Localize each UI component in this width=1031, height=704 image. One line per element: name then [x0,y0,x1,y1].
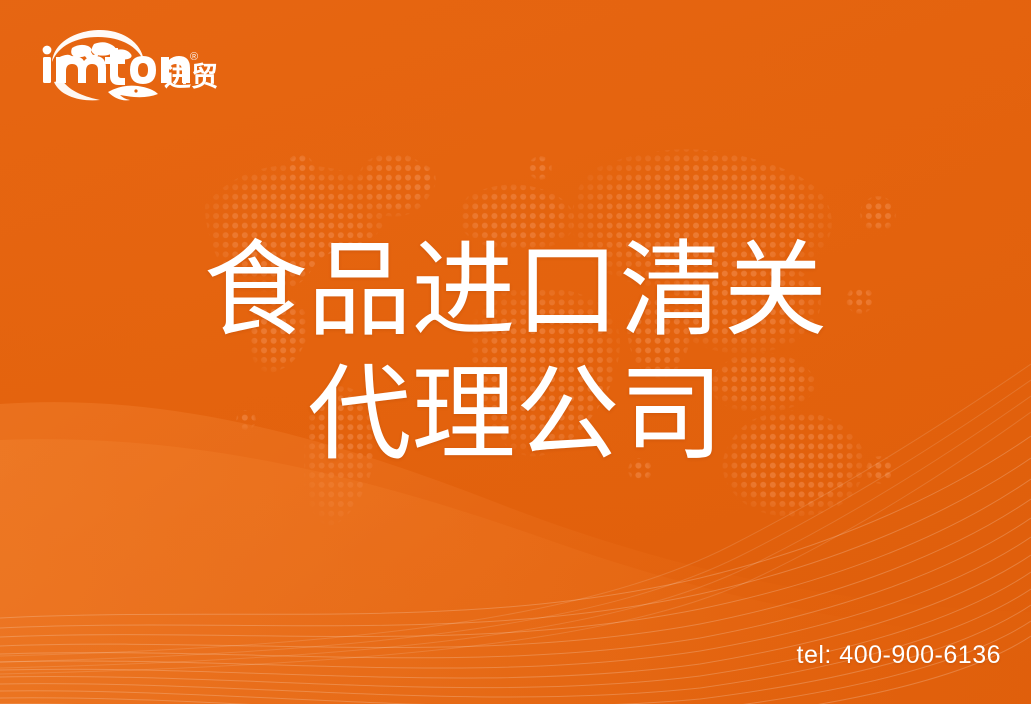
contact-phone[interactable]: tel: 400-900-6136 [797,643,1001,668]
company-logo[interactable]: 进贸通 [38,26,218,102]
promo-banner: 进贸通 ® 食品进口清关 代理公司 tel: 400-900-6136 [0,0,1031,704]
headline-line-2: 代理公司 [0,352,1031,476]
headline: 食品进口清关 代理公司 [0,228,1031,476]
headline-line-1: 食品进口清关 [0,228,1031,352]
registered-trademark-icon: ® [190,52,198,63]
logo-chinese-name: 进贸通 [164,62,218,93]
